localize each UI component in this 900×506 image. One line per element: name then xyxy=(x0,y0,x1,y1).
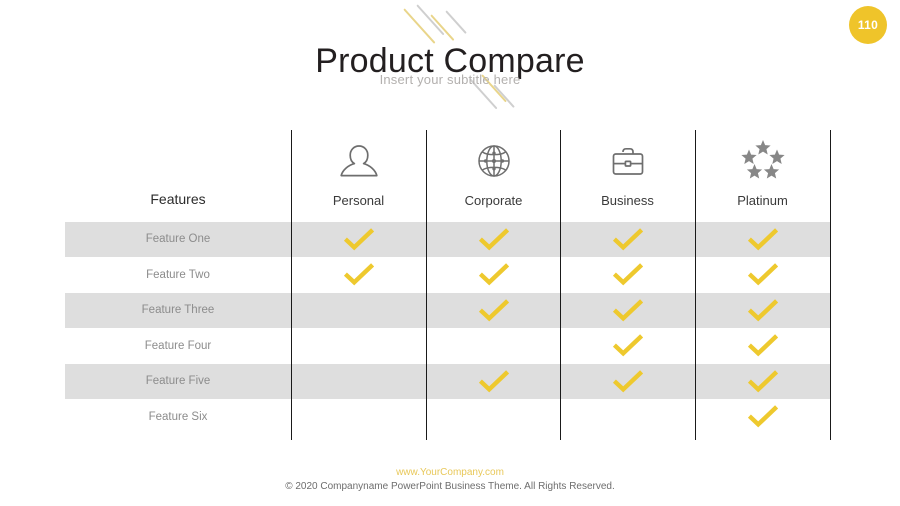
briefcase-icon xyxy=(560,138,695,184)
column-divider-5 xyxy=(830,130,831,440)
features-header: Features xyxy=(65,191,291,207)
column-header-label: Platinum xyxy=(695,193,830,208)
column-header-label: Business xyxy=(560,193,695,208)
check-icon xyxy=(426,364,561,399)
column-header-label: Corporate xyxy=(426,193,561,208)
feature-row-label: Feature Four xyxy=(65,329,291,364)
column-header-label: Personal xyxy=(291,193,426,208)
footer-website[interactable]: www.YourCompany.com xyxy=(0,467,900,478)
slide-canvas: 110 Product Compare Insert your subtitle… xyxy=(0,0,900,506)
check-icon xyxy=(560,364,695,399)
comparison-table: PersonalCorporateBusinessPlatinum Featur… xyxy=(0,0,900,506)
footer-copyright: © 2020 Companyname PowerPoint Business T… xyxy=(0,481,900,492)
feature-row-label: Feature Six xyxy=(65,400,291,435)
check-icon xyxy=(426,293,561,328)
check-icon xyxy=(291,258,426,293)
check-icon xyxy=(560,293,695,328)
column-header-platinum[interactable]: Platinum xyxy=(695,138,830,208)
check-icon xyxy=(426,258,561,293)
check-icon xyxy=(560,222,695,257)
globe-icon xyxy=(426,138,561,184)
check-icon xyxy=(560,329,695,364)
feature-row-label: Feature One xyxy=(65,222,291,257)
check-icon xyxy=(695,329,830,364)
check-icon xyxy=(291,222,426,257)
feature-row-label: Feature Three xyxy=(65,293,291,328)
feature-row-label: Feature Two xyxy=(65,258,291,293)
column-header-corporate[interactable]: Corporate xyxy=(426,138,561,208)
check-icon xyxy=(695,400,830,435)
column-header-personal[interactable]: Personal xyxy=(291,138,426,208)
check-icon xyxy=(695,222,830,257)
check-icon xyxy=(560,258,695,293)
check-icon xyxy=(695,364,830,399)
check-icon xyxy=(426,222,561,257)
feature-row-label: Feature Five xyxy=(65,364,291,399)
person-icon xyxy=(291,138,426,184)
column-header-business[interactable]: Business xyxy=(560,138,695,208)
check-icon xyxy=(695,293,830,328)
stars-icon xyxy=(695,138,830,184)
check-icon xyxy=(695,258,830,293)
